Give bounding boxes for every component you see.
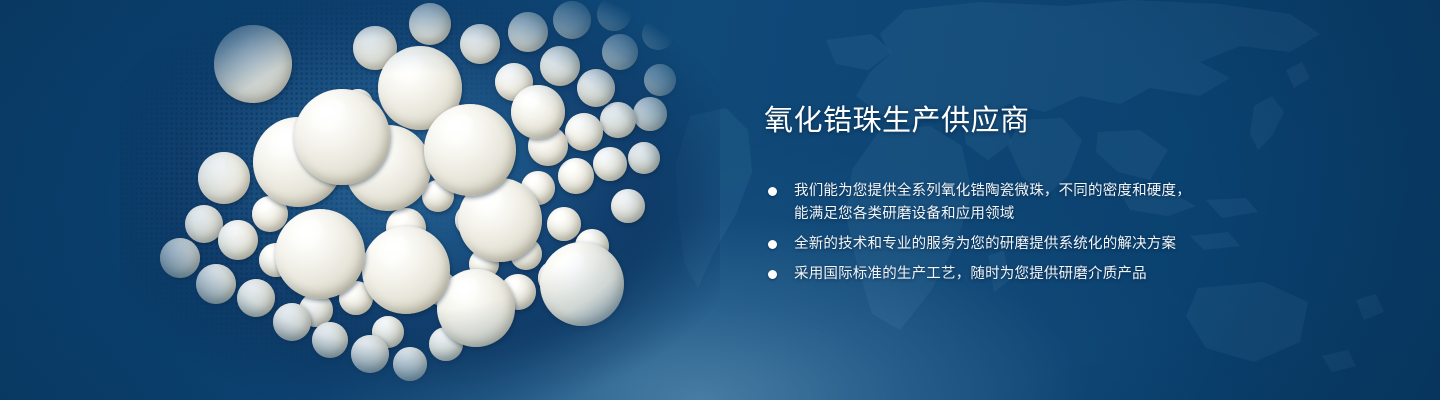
zirconia-bead: [611, 189, 645, 223]
zirconia-beads-photo: [120, 0, 720, 400]
zirconia-bead: [577, 69, 615, 107]
feature-bullet-item: 全新的技术和专业的服务为您的研磨提供系统化的解决方案: [764, 233, 1404, 256]
zirconia-bead: [409, 3, 451, 45]
bullet-text-line: 能满足您各类研磨设备和应用领域: [794, 203, 1404, 226]
banner-content: 氧化锆珠生产供应商 我们能为您提供全系列氧化锆陶瓷微珠，不同的密度和硬度，能满足…: [764, 104, 1404, 286]
zirconia-bead: [273, 303, 311, 341]
zirconia-bead: [160, 238, 200, 278]
zirconia-bead: [196, 264, 236, 304]
zirconia-bead: [362, 226, 450, 314]
zirconia-bead: [633, 97, 667, 131]
zirconia-bead: [547, 207, 581, 241]
zirconia-bead: [628, 142, 660, 174]
zirconia-bead: [508, 12, 548, 52]
feature-bullet-list: 我们能为您提供全系列氧化锆陶瓷微珠，不同的密度和硬度，能满足您各类研磨设备和应用…: [764, 180, 1404, 286]
bead-cluster: [120, 0, 720, 400]
zirconia-bead: [558, 158, 594, 194]
zirconia-bead: [275, 209, 365, 299]
zirconia-bead: [437, 269, 515, 347]
feature-bullet-item: 我们能为您提供全系列氧化锆陶瓷微珠，不同的密度和硬度，能满足您各类研磨设备和应用…: [764, 180, 1404, 226]
bullet-text-line: 全新的技术和专业的服务为您的研磨提供系统化的解决方案: [794, 233, 1404, 256]
zirconia-bead: [312, 322, 348, 358]
bullet-text-line: 采用国际标准的生产工艺，随时为您提供研磨介质产品: [794, 263, 1404, 286]
zirconia-bead: [642, 18, 674, 50]
zirconia-bead: [644, 64, 676, 96]
zirconia-bead: [214, 25, 292, 103]
hero-banner: 氧化锆珠生产供应商 我们能为您提供全系列氧化锆陶瓷微珠，不同的密度和硬度，能满足…: [0, 0, 1440, 400]
zirconia-bead: [393, 347, 427, 381]
zirconia-bead: [237, 279, 275, 317]
zirconia-bead: [565, 113, 603, 151]
zirconia-bead: [218, 220, 258, 260]
bullet-dot-icon: [768, 187, 777, 196]
feature-bullet-item: 采用国际标准的生产工艺，随时为您提供研磨介质产品: [764, 263, 1404, 286]
zirconia-bead: [602, 34, 638, 70]
zirconia-bead: [600, 102, 636, 138]
zirconia-bead: [460, 24, 500, 64]
zirconia-bead: [351, 335, 389, 373]
zirconia-bead: [294, 89, 390, 185]
zirconia-bead: [593, 147, 627, 181]
zirconia-bead: [540, 242, 624, 326]
zirconia-bead: [198, 152, 250, 204]
bullet-dot-icon: [768, 270, 777, 279]
zirconia-bead: [511, 85, 565, 139]
bullet-text-line: 我们能为您提供全系列氧化锆陶瓷微珠，不同的密度和硬度，: [794, 180, 1404, 203]
bullet-dot-icon: [768, 240, 777, 249]
zirconia-bead: [597, 0, 631, 31]
zirconia-bead: [553, 1, 591, 39]
page-title: 氧化锆珠生产供应商: [764, 104, 1404, 138]
zirconia-bead: [424, 104, 516, 196]
zirconia-bead: [540, 46, 580, 86]
